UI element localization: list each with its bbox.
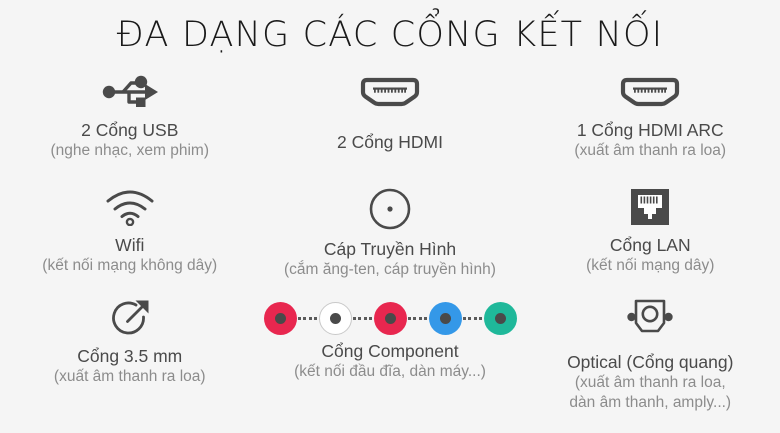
coaxial-antenna-icon xyxy=(367,184,413,234)
cable-dots xyxy=(407,317,429,320)
port-label: Cáp Truyền Hình xyxy=(324,239,456,260)
rca-connector-red-right xyxy=(374,302,407,335)
port-label: 2 Cổng HDMI xyxy=(337,132,443,153)
ports-grid: 2 Cổng USB (nghe nhạc, xem phim) xyxy=(0,65,780,418)
cable-dots xyxy=(462,317,484,320)
port-card-audio-35mm: Cổng 3.5 mm (xuất âm thanh ra loa) xyxy=(0,291,260,418)
port-sublabel-line2: dàn âm thanh, amply...) xyxy=(569,394,731,412)
port-label: Optical (Cổng quang) xyxy=(567,352,733,373)
port-card-optical: Optical (Cổng quang) (xuất âm thanh ra l… xyxy=(521,291,780,418)
rca-connector-white xyxy=(319,302,352,335)
port-label: Cổng 3.5 mm xyxy=(77,346,182,367)
port-sublabel: (cắm ăng-ten, cáp truyền hình) xyxy=(284,261,496,280)
cable-dots xyxy=(352,317,374,320)
hdmi-arc-port-icon xyxy=(618,69,682,115)
port-card-lan: Cổng LAN (kết nối mạng dây) xyxy=(521,178,780,291)
rca-connector-blue xyxy=(429,302,462,335)
port-label: Wifi xyxy=(115,235,144,256)
port-sublabel: (xuất âm thanh ra loa) xyxy=(574,142,726,161)
port-sublabel: (nghe nhạc, xem phim) xyxy=(50,142,209,161)
port-sublabel: (kết nối mạng dây) xyxy=(586,257,714,276)
port-sublabel: (kết nối mạng không dây) xyxy=(42,257,217,276)
port-card-hdmi: 2 Cổng HDMI xyxy=(260,65,521,178)
port-card-usb: 2 Cổng USB (nghe nhạc, xem phim) xyxy=(0,65,260,178)
audio-jack-arrow-icon xyxy=(106,295,154,341)
port-label: Cổng Component xyxy=(321,341,458,362)
rca-component-icon xyxy=(264,295,517,341)
lan-rj45-icon xyxy=(629,184,671,230)
port-sublabel: (xuất âm thanh ra loa) xyxy=(54,368,206,387)
port-card-component: Cổng Component (kết nối đầu đĩa, dàn máy… xyxy=(260,291,521,418)
rca-connector-red-left xyxy=(264,302,297,335)
optical-toslink-icon xyxy=(625,295,675,341)
connectivity-infographic: ĐA DẠNG CÁC CỔNG KẾT NỐI 2 Cổng US xyxy=(0,0,780,433)
page-title: ĐA DẠNG CÁC CỔNG KẾT NỐI xyxy=(0,0,780,53)
usb-icon xyxy=(101,69,159,115)
port-label: 2 Cổng USB xyxy=(81,120,178,141)
wifi-icon xyxy=(104,184,156,230)
hdmi-port-icon xyxy=(358,69,422,115)
port-card-hdmi-arc: 1 Cổng HDMI ARC (xuất âm thanh ra loa) xyxy=(521,65,780,178)
cable-dots xyxy=(297,317,319,320)
port-label: Cổng LAN xyxy=(610,235,691,256)
port-sublabel-line1: (xuất âm thanh ra loa, xyxy=(575,374,726,392)
port-label: 1 Cổng HDMI ARC xyxy=(577,120,724,141)
port-card-coaxial: Cáp Truyền Hình (cắm ăng-ten, cáp truyền… xyxy=(260,178,521,291)
rca-connector-green xyxy=(484,302,517,335)
port-sublabel: (kết nối đầu đĩa, dàn máy...) xyxy=(294,363,486,382)
port-card-wifi: Wifi (kết nối mạng không dây) xyxy=(0,178,260,291)
